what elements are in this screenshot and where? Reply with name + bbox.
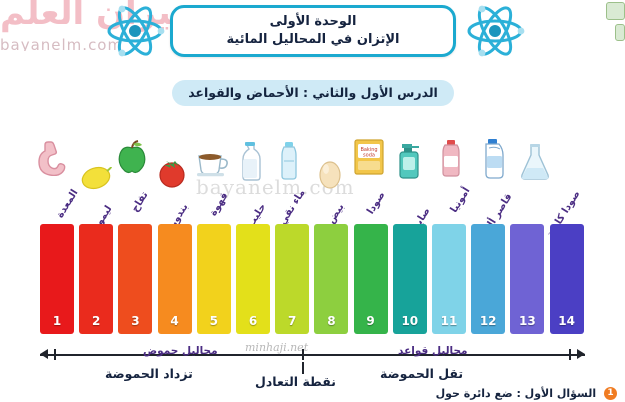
footer-bullet: 1 [604,387,617,400]
ph-bar-value: 4 [170,314,178,328]
stomach-icon [36,140,70,176]
baking-soda-box-icon: Baking soda [352,138,386,176]
atom-decoration-right [464,2,526,60]
corner-chip-top-right [606,2,625,20]
coffee-cup-icon [195,146,231,178]
ph-bar-value: 2 [92,314,100,328]
water-bottle-icon [277,141,301,181]
axis-caption-acids: محاليل حموض [143,345,218,357]
ph-bar-value: 12 [480,314,497,328]
ph-scale-bars: 1234567891011121314 [40,224,585,334]
ph-bar-13: 13 [510,224,544,334]
tomato-icon [156,158,188,188]
lemon-icon [80,165,112,191]
ph-bar-value: 7 [288,314,296,328]
axis-arrow-left [40,349,48,359]
axis-sub-decreasing-acidity: تقل الحموضة [380,366,463,381]
ph-bar-6: 6 [236,224,270,334]
svg-text:soda: soda [363,153,375,159]
ph-bar-value: 5 [210,314,218,328]
ph-bar-10: 10 [393,224,427,334]
ph-bar-value: 6 [249,314,257,328]
ph-bar-5: 5 [197,224,231,334]
lesson-banner: الدرس الأول والثاني : الأحماض والقواعد [172,80,454,106]
ph-bar-value: 1 [53,314,61,328]
axis-tick-right [569,349,571,360]
axis-line [40,354,585,356]
atom-decoration-left [104,2,166,60]
ph-bar-7: 7 [275,224,309,334]
unit-title-line1: الوحدة الأولى [173,13,453,31]
axis-tick-center [302,349,304,360]
ph-bar-8: 8 [314,224,348,334]
flask-icon [518,143,552,181]
ph-bar-value: 14 [558,314,575,328]
ph-bar-value: 3 [131,314,139,328]
bleach-bottle-icon [478,138,508,180]
neutral-point-stem [302,362,304,374]
ph-bar-value: 8 [327,314,335,328]
ph-axis [40,348,585,362]
ph-bar-value: 10 [401,314,418,328]
ph-bar-4: 4 [158,224,192,334]
axis-caption-bases: محاليل قواعد [398,345,468,357]
ph-bar-14: 14 [550,224,584,334]
unit-title-line2: الإتزان في المحاليل المائية [173,31,453,49]
ph-bar-12: 12 [471,224,505,334]
egg-icon [317,155,343,189]
soap-dispenser-icon [396,141,426,181]
ph-bar-3: 3 [118,224,152,334]
footer-question: 1 السؤال الأول : ضع دائرة حول [436,387,617,401]
milk-bottle-icon [237,141,263,181]
ph-bar-value: 13 [519,314,536,328]
ph-bar-2: 2 [79,224,113,334]
apple-icon [116,140,148,174]
corner-chip-right-upper [615,24,625,41]
ph-bar-9: 9 [354,224,388,334]
axis-sub-increasing-acidity: تزداد الحموضة [105,366,193,381]
footer-text: السؤال الأول : ضع دائرة حول [436,387,597,400]
ph-bar-value: 11 [441,314,458,328]
axis-tick-left [54,349,56,360]
ph-bar-value: 9 [366,314,374,328]
neutral-point-caption: نقطة التعادل [255,374,336,389]
ph-bar-1: 1 [40,224,74,334]
unit-title-card: الوحدة الأولى الإتزان في المحاليل المائي… [170,5,456,57]
ammonia-bottle-icon [438,139,464,179]
ph-bar-11: 11 [432,224,466,334]
axis-arrow-right [577,349,585,359]
